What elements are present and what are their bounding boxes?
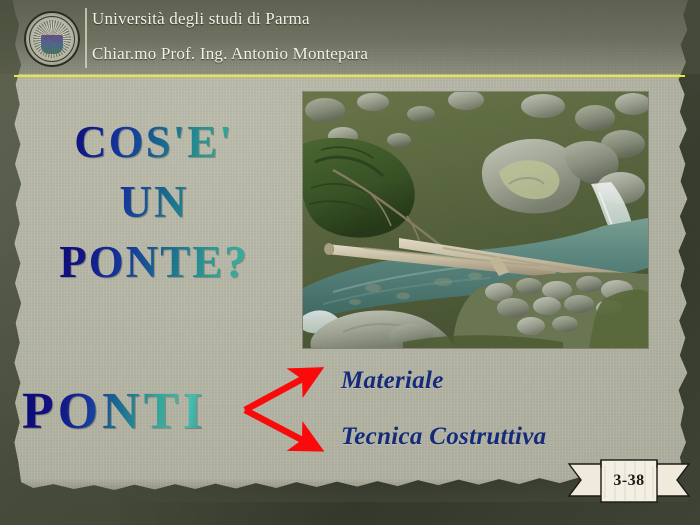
slide-header: Università degli studi di Parma Chiar.mo… xyxy=(0,0,700,78)
title-line-3: PONTE? xyxy=(18,232,290,292)
ribbon-svg xyxy=(567,458,691,504)
arrow-up-right xyxy=(245,377,306,410)
professor-name: Chiar.mo Prof. Ing. Antonio Montepara xyxy=(92,44,368,64)
arrows-svg xyxy=(236,366,328,456)
header-yellow-rule xyxy=(14,75,685,77)
slide-title: COS'E' UN PONTE? xyxy=(18,112,290,292)
title-line-2: UN xyxy=(18,172,290,232)
branch-arrows-icon xyxy=(236,366,328,456)
title-line-1: COS'E' xyxy=(18,112,290,172)
photo-illustration xyxy=(303,92,648,348)
university-name: Università degli studi di Parma xyxy=(92,9,310,29)
header-divider xyxy=(85,8,87,68)
seal-crest xyxy=(41,35,63,54)
branch-label-materiale: Materiale xyxy=(341,367,444,395)
university-seal-icon xyxy=(24,11,80,67)
keyword-ponti: PONTI xyxy=(22,382,207,441)
branch-label-tecnica: Tecnica Costruttiva xyxy=(341,423,546,451)
arrow-down-right xyxy=(245,410,306,442)
photo-log-bridge xyxy=(303,92,648,348)
page-ribbon-banner xyxy=(567,458,691,504)
slide-canvas: Università degli studi di Parma Chiar.mo… xyxy=(0,0,700,525)
